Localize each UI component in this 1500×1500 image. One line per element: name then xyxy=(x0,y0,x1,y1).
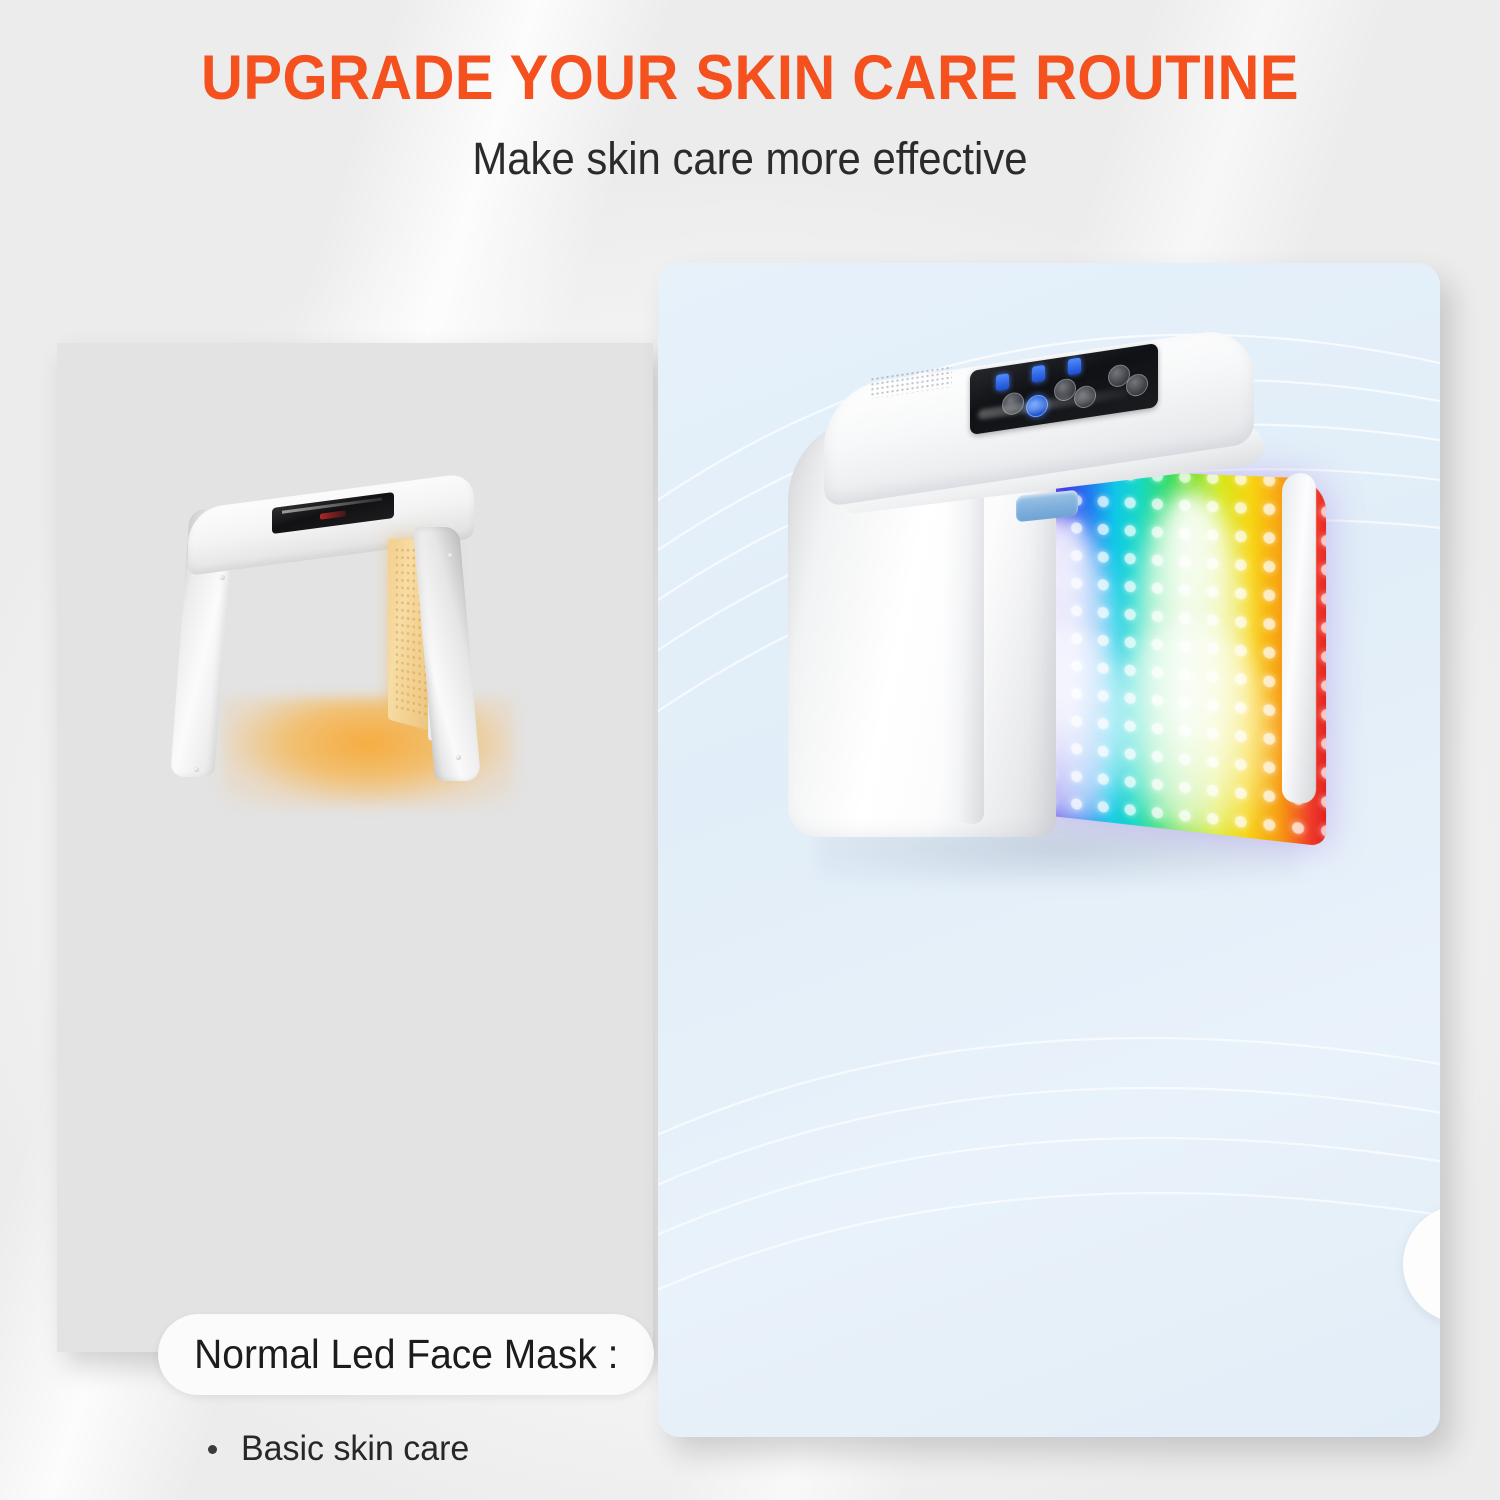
bullet-dot-icon xyxy=(208,1445,217,1454)
normal-mask-bullet-list: Basic skin care Only light therapy cause… xyxy=(208,1425,678,1500)
header: UPGRADE YOUR SKIN CARE ROUTINE Make skin… xyxy=(0,44,1500,184)
spectrometer-card: Our Water Replenishment Spectrometer: 7 … xyxy=(658,263,1440,1437)
indicator-led xyxy=(1032,365,1045,383)
screw-icon xyxy=(448,553,453,558)
normal-mask-card: Normal Led Face Mask : Basic skin care O… xyxy=(57,343,653,1352)
mask-arch-body xyxy=(180,491,480,781)
screw-icon xyxy=(456,755,461,760)
page-subtitle: Make skin care more effective xyxy=(53,134,1448,184)
normal-led-face-mask-image xyxy=(162,483,562,823)
indicator-led xyxy=(996,373,1009,391)
screw-icon xyxy=(220,575,225,580)
list-item: Basic skin care xyxy=(208,1425,678,1472)
device-right-rim xyxy=(1282,471,1316,804)
device-front-edge xyxy=(944,461,984,825)
page-title: UPGRADE YOUR SKIN CARE ROUTINE xyxy=(60,44,1440,112)
normal-mask-label-pill: Normal Led Face Mask : xyxy=(158,1314,654,1395)
infographic-page: UPGRADE YOUR SKIN CARE ROUTINE Make skin… xyxy=(0,0,1500,1500)
normal-mask-label: Normal Led Face Mask : xyxy=(194,1331,618,1378)
bullet-label: Basic skin care xyxy=(241,1425,469,1472)
display-glyph-icon xyxy=(320,510,346,519)
indicator-led xyxy=(1068,357,1081,375)
screw-icon xyxy=(194,767,199,772)
mask-right-leg xyxy=(413,527,481,781)
water-replenishment-spectrometer-image xyxy=(748,343,1368,903)
